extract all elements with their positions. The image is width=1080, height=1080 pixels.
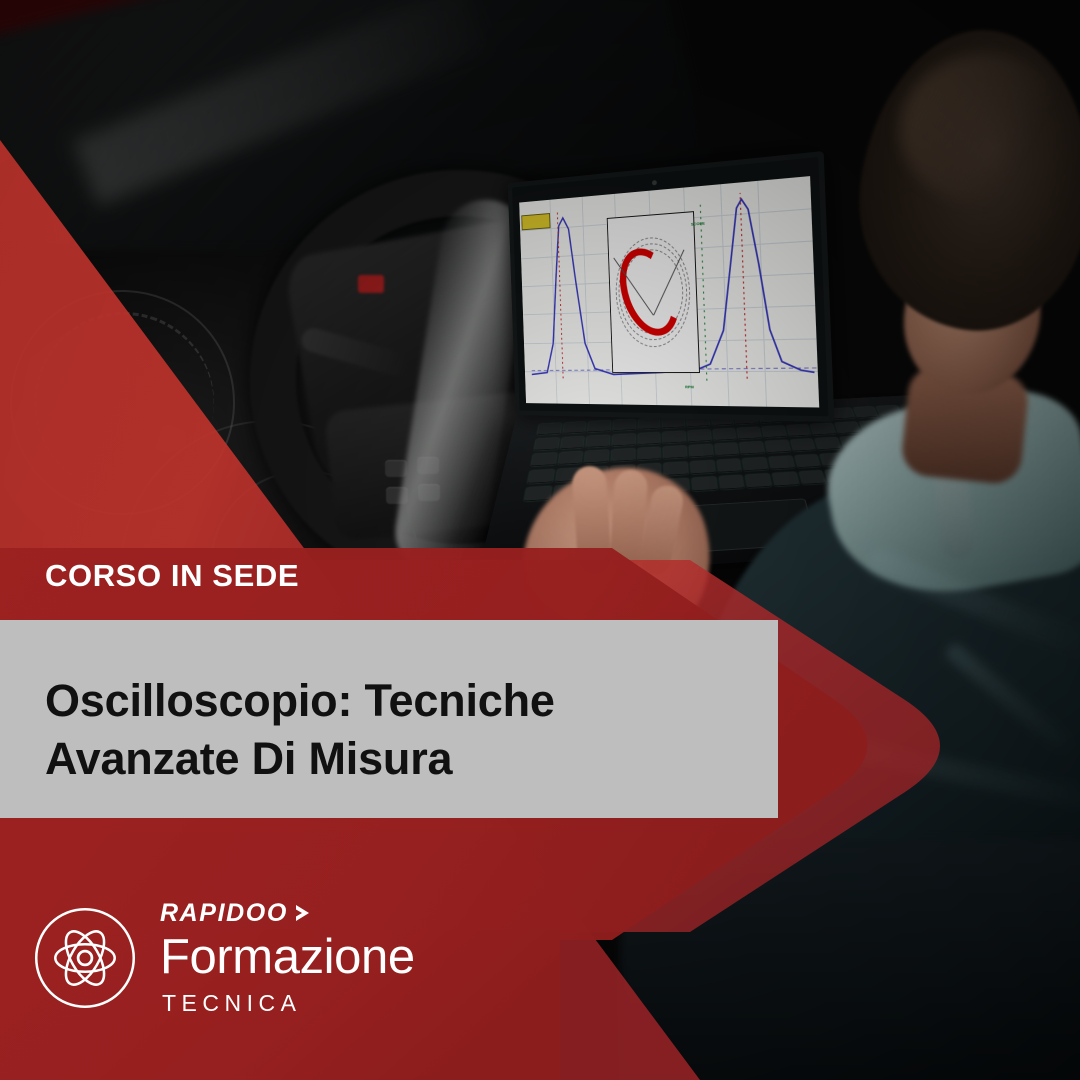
title-line-1: Oscilloscopio: Tecniche: [45, 675, 555, 726]
page-title: Oscilloscopio: Tecniche Avanzate Di Misu…: [45, 672, 745, 787]
atom-icon: [32, 905, 138, 1011]
brand-rapidoo-text: RAPIDOO: [160, 901, 288, 926]
brand-wordmark: RAPIDOO Formazione TECNICA: [160, 897, 460, 1017]
brand-tecnica: TECNICA: [162, 990, 460, 1017]
chevron-right-icon: [292, 902, 314, 924]
brand-logo[interactable]: RAPIDOO Formazione TECNICA: [32, 897, 462, 1027]
title-line-2: Avanzate Di Misura: [45, 733, 452, 784]
brand-rapidoo-row: RAPIDOO: [160, 897, 460, 929]
poster-canvas: SCOPE RPM: [0, 0, 1080, 1080]
brand-formazione: Formazione: [160, 932, 460, 983]
title-panel: Oscilloscopio: Tecniche Avanzate Di Misu…: [0, 620, 778, 818]
kicker-label: CORSO IN SEDE: [45, 560, 299, 591]
